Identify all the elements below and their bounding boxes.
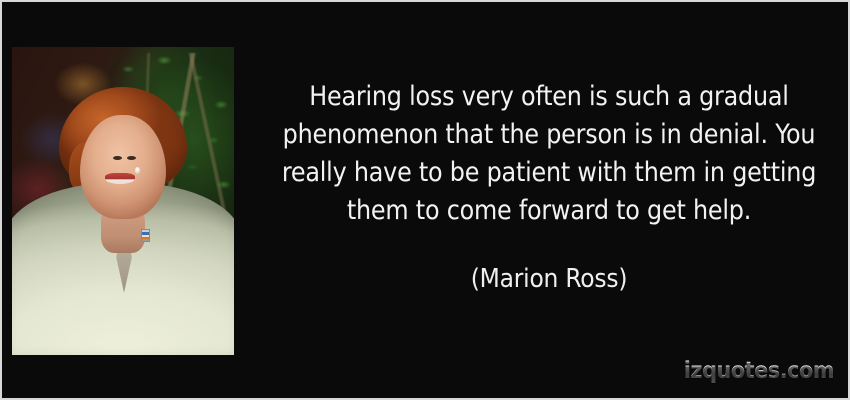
quote-card: Hearing loss very often is such a gradua… bbox=[0, 0, 850, 400]
quote-author: (Marion Ross) bbox=[254, 264, 844, 294]
quote-line: phenomenon that the person is in denial.… bbox=[254, 116, 844, 154]
face-shape bbox=[80, 115, 166, 219]
lapel-pin-icon bbox=[141, 229, 150, 242]
quote-text: Hearing loss very often is such a gradua… bbox=[254, 78, 844, 230]
earring-icon bbox=[135, 167, 140, 174]
quote-line: Hearing loss very often is such a gradua… bbox=[254, 78, 844, 116]
quote-line: really have to be patient with them in g… bbox=[254, 154, 844, 192]
quote-line: them to come forward to get help. bbox=[254, 192, 844, 230]
eye-right bbox=[127, 156, 136, 160]
eye-left bbox=[113, 156, 122, 160]
site-watermark: izquotes.com bbox=[684, 358, 834, 384]
smile-shape bbox=[105, 173, 135, 184]
portrait-background bbox=[12, 47, 234, 355]
portrait-photo bbox=[12, 47, 234, 355]
